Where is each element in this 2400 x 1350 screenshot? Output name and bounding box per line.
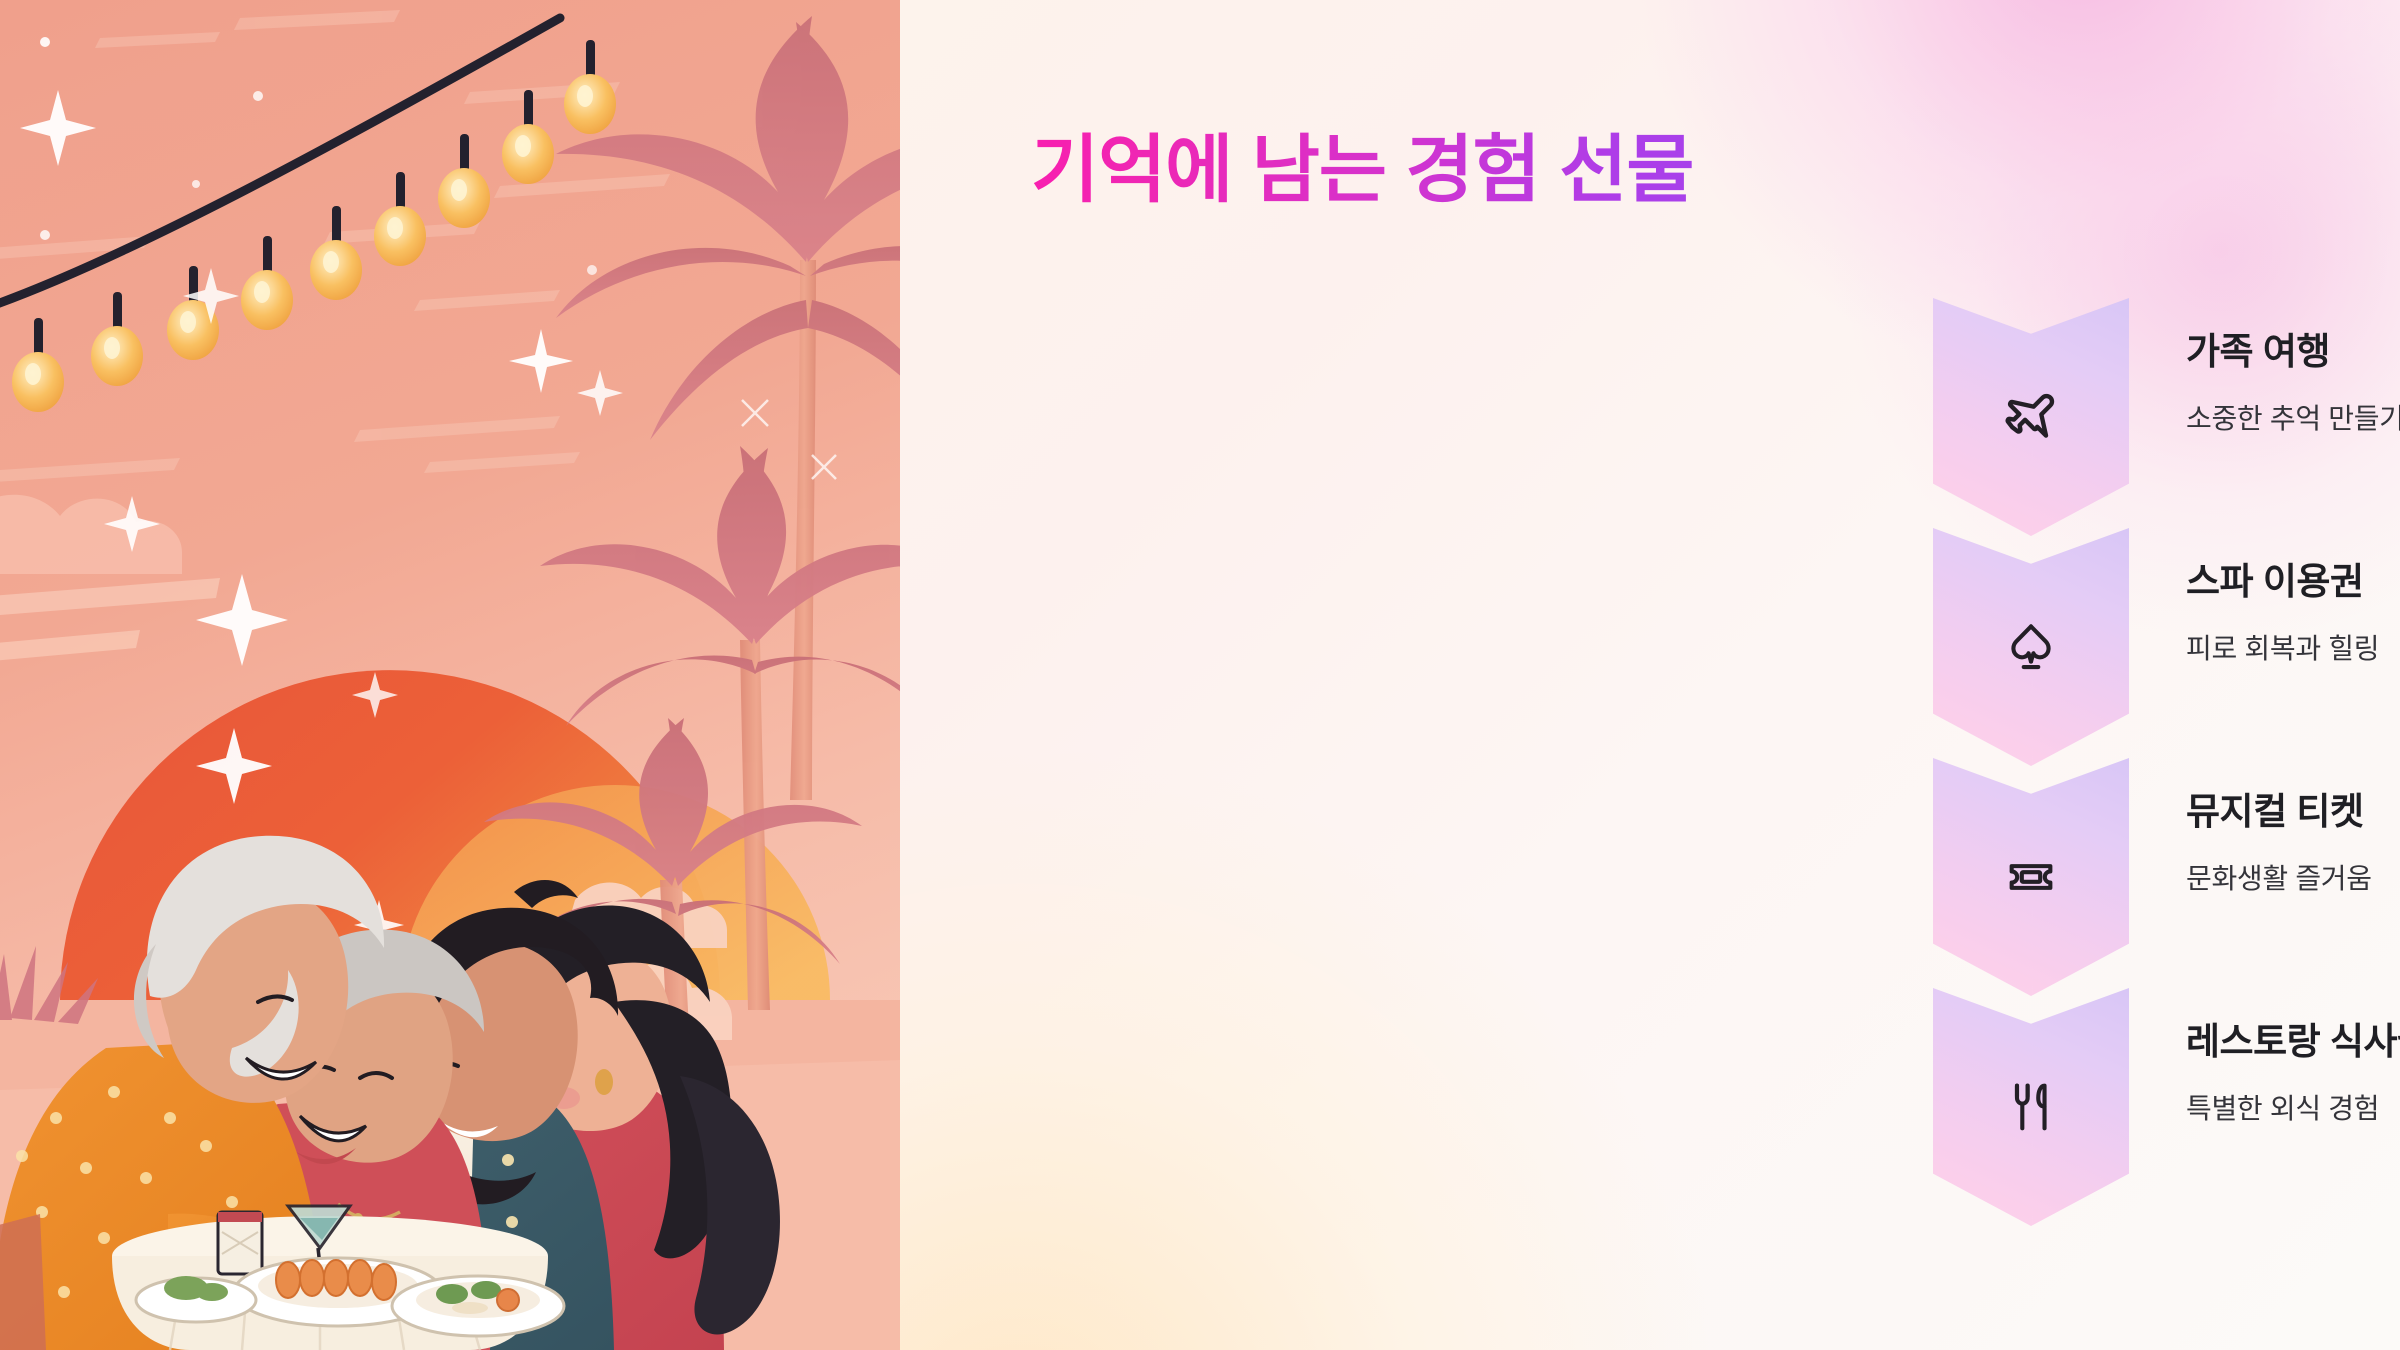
feature-item-spa-pass[interactable]: 스파 이용권 피로 회복과 힐링 bbox=[900, 528, 2400, 758]
feature-text-4: 레스토랑 식사권 특별한 외식 경험 bbox=[2186, 1018, 2400, 1128]
slide-root: 기억에 남는 경험 선물 가족 여행 소중한 추억 만들기 bbox=[0, 0, 2400, 1350]
feature-desc: 특별한 외식 경험 bbox=[2186, 1090, 2400, 1128]
badge-shape-3 bbox=[1933, 758, 2129, 996]
illustration-panel bbox=[0, 0, 900, 1350]
feature-text-1: 가족 여행 소중한 추억 만들기 bbox=[2186, 328, 2400, 438]
feature-desc: 피로 회복과 힐링 bbox=[2186, 630, 2379, 668]
feature-title: 스파 이용권 bbox=[2186, 558, 2379, 606]
feature-item-musical-ticket[interactable]: 뮤지컬 티켓 문화생활 즐거움 bbox=[900, 758, 2400, 988]
badge-shape-2 bbox=[1933, 528, 2129, 766]
food-plate-side bbox=[136, 1276, 256, 1322]
badge-shape-1 bbox=[1933, 298, 2129, 536]
feature-text-2: 스파 이용권 피로 회복과 힐링 bbox=[2186, 558, 2379, 668]
feature-desc: 문화생활 즐거움 bbox=[2186, 860, 2372, 898]
sunset-family-dinner-illustration bbox=[0, 0, 900, 1350]
feature-text-3: 뮤지컬 티켓 문화생활 즐거움 bbox=[2186, 788, 2372, 898]
page-title: 기억에 남는 경험 선물 bbox=[1031, 124, 1693, 217]
content-panel: 기억에 남는 경험 선물 가족 여행 소중한 추억 만들기 bbox=[900, 0, 2400, 1350]
chair-back bbox=[0, 1214, 46, 1350]
feature-item-family-trip[interactable]: 가족 여행 소중한 추억 만들기 bbox=[900, 298, 2400, 528]
badge-shape-4 bbox=[1933, 988, 2129, 1226]
feature-desc: 소중한 추억 만들기 bbox=[2186, 400, 2400, 438]
feature-title: 레스토랑 식사권 bbox=[2186, 1018, 2400, 1066]
feature-title: 뮤지컬 티켓 bbox=[2186, 788, 2372, 836]
feature-title: 가족 여행 bbox=[2186, 328, 2400, 376]
tumbler-glass bbox=[218, 1212, 262, 1274]
feature-list: 가족 여행 소중한 추억 만들기 스파 이용 bbox=[900, 298, 2400, 1218]
food-plate-salad bbox=[392, 1276, 564, 1336]
feature-item-restaurant-voucher[interactable]: 레스토랑 식사권 특별한 외식 경험 bbox=[900, 988, 2400, 1218]
